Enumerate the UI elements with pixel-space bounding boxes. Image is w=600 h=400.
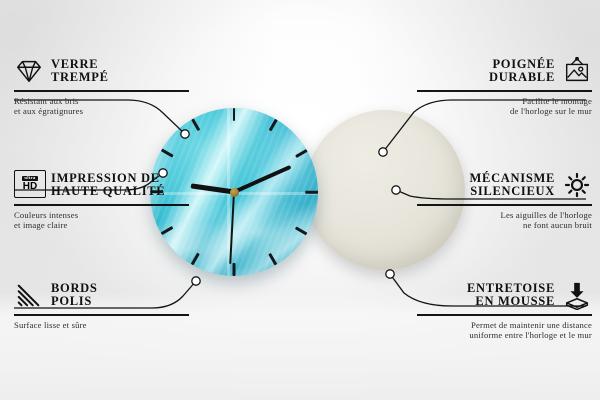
divider bbox=[417, 314, 592, 316]
feature-subtitle: Résistant aux briset aux égratignures bbox=[14, 96, 189, 118]
divider bbox=[14, 90, 189, 92]
feature-subtitle: Permet de maintenir une distanceuniforme… bbox=[417, 320, 592, 342]
divider bbox=[14, 314, 189, 316]
picture-frame-hanger-icon bbox=[562, 56, 592, 86]
feature-header: VERRETREMPÉ bbox=[14, 56, 189, 86]
feature-title: MÉCANISMESILENCIEUX bbox=[470, 172, 555, 199]
infographic-canvas: VERRETREMPÉ Résistant aux briset aux égr… bbox=[0, 0, 600, 400]
ultra-hd-icon: ultra HD bbox=[14, 170, 44, 200]
feature-subtitle: Couleurs intenseset image claire bbox=[14, 210, 189, 232]
hour-marker bbox=[234, 191, 318, 194]
feature-subtitle: Surface lisse et sûre bbox=[14, 320, 189, 331]
feature-impression-haute-qualite[interactable]: ultra HD IMPRESSION DEHAUTE QUALITÉ Coul… bbox=[14, 170, 189, 231]
hands-center-cap bbox=[230, 188, 239, 197]
feature-bords-polis[interactable]: BORDSPOLIS Surface lisse et sûre bbox=[14, 280, 189, 330]
foam-spacer-icon bbox=[562, 280, 592, 310]
feature-subtitle: Facilite le montagede l'horloge sur le m… bbox=[417, 96, 592, 118]
feature-mecanisme-silencieux[interactable]: MÉCANISMESILENCIEUX Les aiguilles de l'h… bbox=[417, 170, 592, 231]
gear-icon bbox=[562, 170, 592, 200]
feature-header: ultra HD IMPRESSION DEHAUTE QUALITÉ bbox=[14, 170, 189, 200]
feature-poignee-durable[interactable]: POIGNÉEDURABLE Facilite le montagede l'h… bbox=[417, 56, 592, 117]
divider bbox=[417, 204, 592, 206]
divider bbox=[417, 90, 592, 92]
feature-title: VERRETREMPÉ bbox=[51, 58, 109, 85]
feature-subtitle: Les aiguilles de l'horlogene font aucun … bbox=[417, 210, 592, 232]
feature-header: MÉCANISMESILENCIEUX bbox=[417, 170, 592, 200]
feature-title: BORDSPOLIS bbox=[51, 282, 98, 309]
feature-header: ENTRETOISEEN MOUSSE bbox=[417, 280, 592, 310]
feature-title: ENTRETOISEEN MOUSSE bbox=[467, 282, 555, 309]
feature-header: BORDSPOLIS bbox=[14, 280, 189, 310]
feature-header: POIGNÉEDURABLE bbox=[417, 56, 592, 86]
feature-verre-trempe[interactable]: VERRETREMPÉ Résistant aux briset aux égr… bbox=[14, 56, 189, 117]
polished-edges-icon bbox=[14, 280, 44, 310]
feature-entretoise-en-mousse[interactable]: ENTRETOISEEN MOUSSE Permet de maintenir … bbox=[417, 280, 592, 341]
diamond-icon bbox=[14, 56, 44, 86]
divider bbox=[14, 204, 189, 206]
feature-title: IMPRESSION DEHAUTE QUALITÉ bbox=[51, 172, 165, 199]
hd-label: HD bbox=[23, 182, 37, 192]
feature-title: POIGNÉEDURABLE bbox=[489, 58, 555, 85]
hour-marker bbox=[233, 108, 236, 192]
